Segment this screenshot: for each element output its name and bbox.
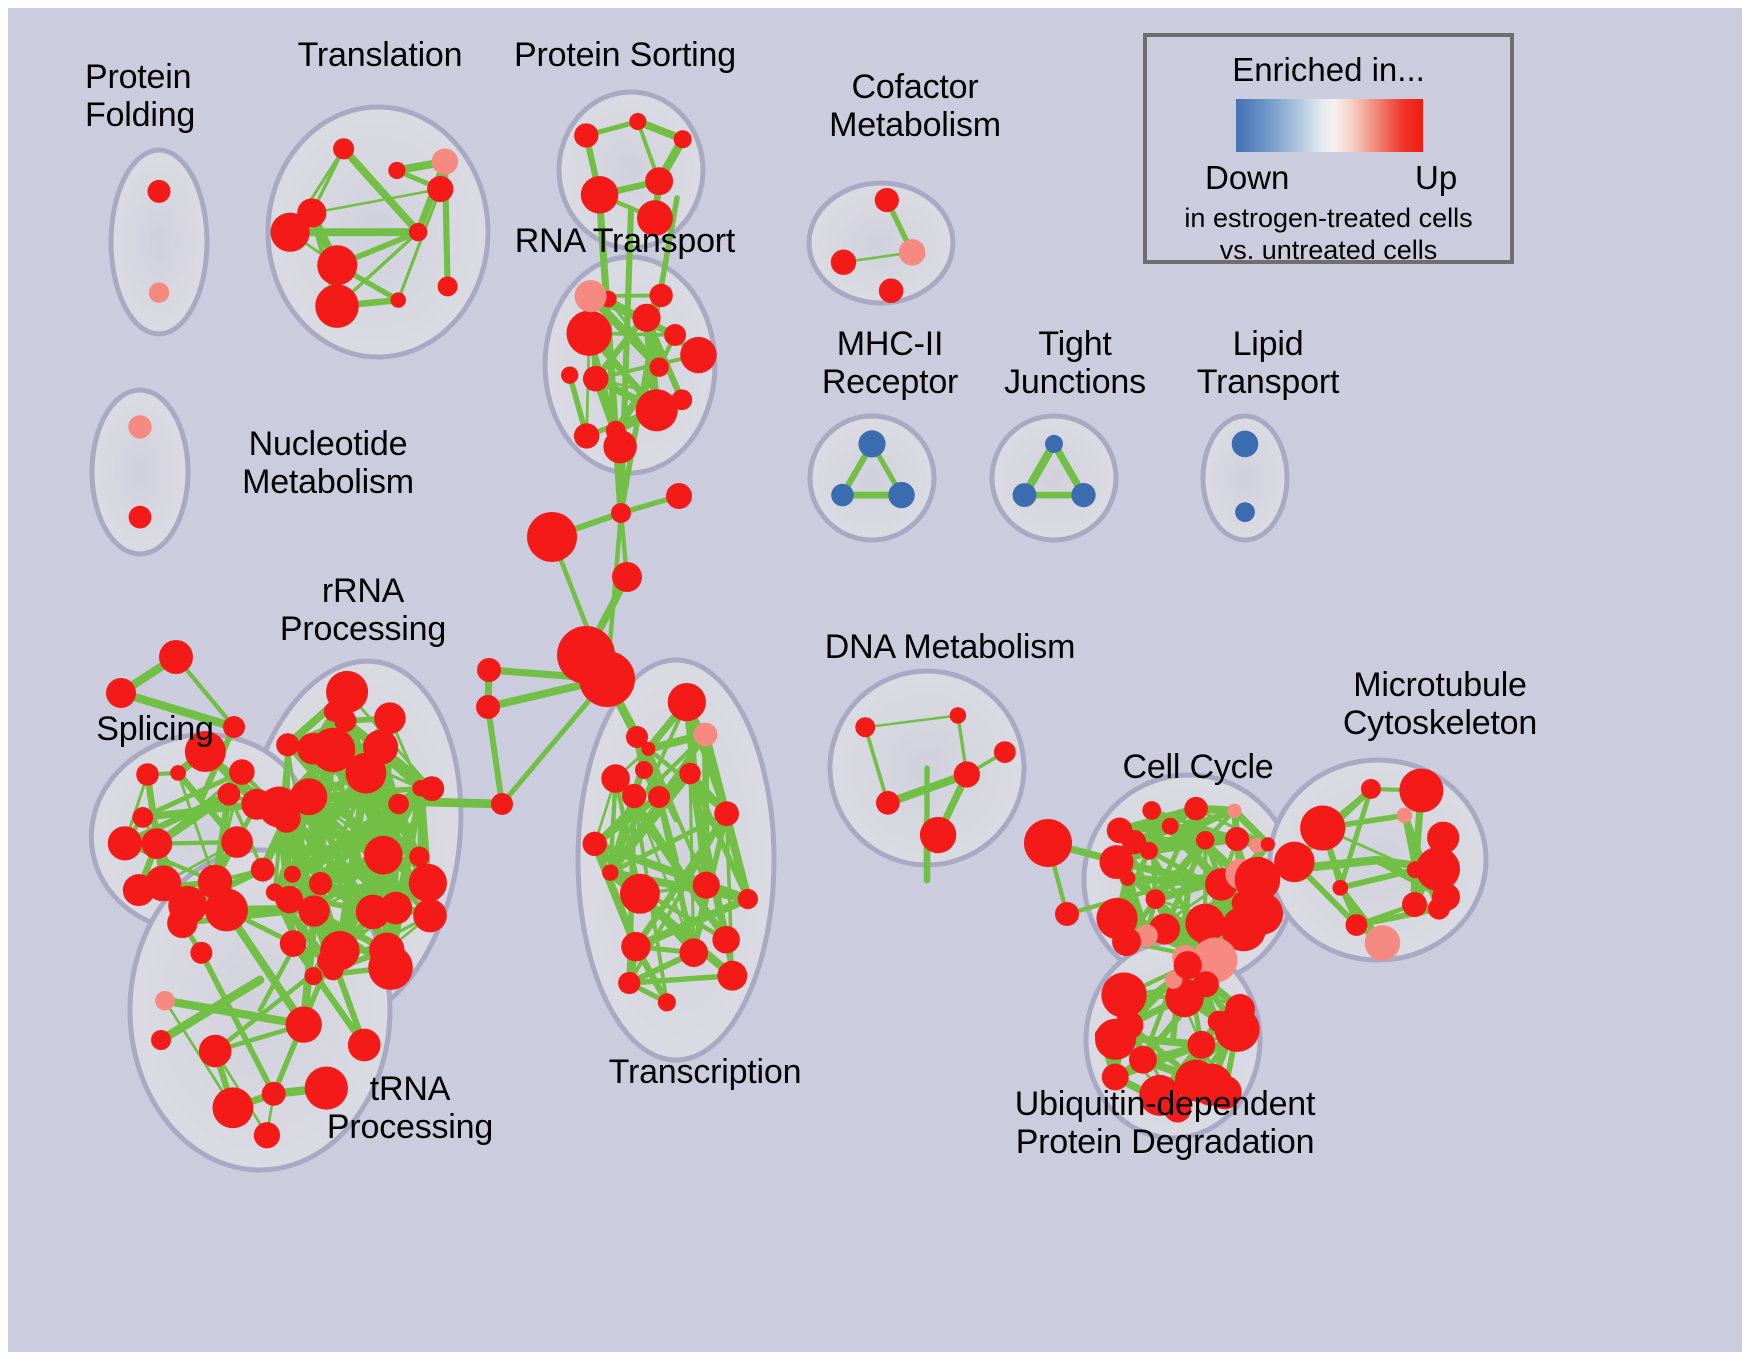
network-node xyxy=(272,804,301,833)
network-node xyxy=(368,945,413,990)
network-node xyxy=(1402,892,1427,917)
network-node xyxy=(304,967,322,985)
network-node xyxy=(317,245,357,285)
network-node xyxy=(1416,847,1460,891)
cluster-label-transcription: Transcription xyxy=(560,1053,850,1091)
network-node xyxy=(679,938,708,967)
network-node xyxy=(611,503,631,523)
network-node xyxy=(106,678,136,708)
cluster-label-cofactor-metabolism: Cofactor Metabolism xyxy=(770,68,1060,144)
network-node xyxy=(205,888,248,931)
cluster-ellipse xyxy=(92,390,188,554)
network-node xyxy=(159,640,193,674)
network-node xyxy=(994,741,1016,763)
network-node xyxy=(1146,889,1166,909)
network-node xyxy=(270,213,309,252)
legend-down-label: Down xyxy=(1205,159,1289,197)
network-node xyxy=(167,908,197,938)
cluster-label-trna-processing: tRNA Processing xyxy=(280,1070,540,1146)
cluster-label-microtubule-cytoskeleton: Microtubule Cytoskeleton xyxy=(1280,666,1600,742)
network-node xyxy=(680,337,716,373)
network-node xyxy=(413,899,447,933)
network-node xyxy=(108,826,142,860)
network-node xyxy=(241,789,272,820)
network-node xyxy=(1365,925,1400,960)
network-node xyxy=(1232,431,1259,458)
network-node xyxy=(1274,842,1314,882)
network-node xyxy=(561,366,578,383)
network-node xyxy=(1227,804,1241,818)
network-node xyxy=(136,763,159,786)
network-node xyxy=(254,1122,280,1148)
network-node xyxy=(1261,837,1275,851)
network-node xyxy=(141,828,172,859)
network-node xyxy=(626,726,648,748)
network-node xyxy=(602,864,619,881)
network-node xyxy=(899,239,926,266)
network-node xyxy=(635,761,653,779)
network-node xyxy=(1300,805,1345,850)
network-node xyxy=(888,482,914,508)
network-node xyxy=(364,836,403,875)
network-node xyxy=(714,801,739,826)
network-node xyxy=(1241,892,1283,934)
network-node xyxy=(229,759,255,785)
legend-caption: in estrogen-treated cellsvs. untreated c… xyxy=(1147,203,1510,267)
network-node xyxy=(649,284,672,307)
network-node xyxy=(583,366,609,392)
cluster-label-ubiquitin-degradation: Ubiquitin-dependent Protein Degradation xyxy=(955,1085,1375,1161)
network-node xyxy=(1013,483,1037,507)
legend-title: Enriched in... xyxy=(1147,51,1510,89)
network-node xyxy=(388,162,405,179)
network-node xyxy=(326,671,368,713)
network-node xyxy=(1235,502,1255,522)
figure-root: Protein FoldingTranslationProtein Sortin… xyxy=(0,0,1750,1360)
network-node xyxy=(276,733,299,756)
network-node xyxy=(581,176,619,214)
network-node xyxy=(712,926,740,954)
network-node xyxy=(409,864,447,902)
network-node xyxy=(309,872,332,895)
network-node xyxy=(491,793,513,815)
network-node xyxy=(348,1029,381,1062)
network-node xyxy=(266,883,284,901)
cluster-label-protein-sorting: Protein Sorting xyxy=(480,36,770,74)
network-node xyxy=(831,484,854,507)
network-node xyxy=(601,764,630,793)
network-node xyxy=(1174,951,1202,979)
network-node xyxy=(317,949,341,973)
network-node xyxy=(1225,994,1255,1024)
network-node xyxy=(151,1030,171,1050)
network-node xyxy=(1332,880,1348,896)
network-node xyxy=(1024,819,1072,867)
network-node xyxy=(409,223,427,241)
network-node xyxy=(1099,845,1133,879)
network-node xyxy=(123,874,155,906)
network-node xyxy=(190,942,212,964)
network-node xyxy=(286,1006,322,1042)
network-node xyxy=(679,763,701,785)
network-node xyxy=(374,702,406,734)
network-node xyxy=(388,794,409,815)
network-node xyxy=(1107,818,1133,844)
network-node xyxy=(875,188,899,212)
network-node xyxy=(1101,973,1146,1018)
network-node xyxy=(1399,768,1443,812)
network-node xyxy=(1225,827,1249,851)
network-node xyxy=(476,695,500,719)
network-node xyxy=(1432,883,1460,911)
network-node xyxy=(391,292,406,307)
network-node xyxy=(950,707,966,723)
network-node xyxy=(1187,1031,1215,1059)
network-node xyxy=(632,304,660,332)
network-node xyxy=(128,415,151,438)
network-node xyxy=(649,357,668,376)
network-node xyxy=(132,807,153,828)
network-node xyxy=(149,282,169,302)
network-node xyxy=(879,279,904,304)
network-node xyxy=(1361,779,1381,799)
network-node xyxy=(876,791,900,815)
network-node xyxy=(477,658,501,682)
edge xyxy=(351,800,502,804)
network-node xyxy=(831,250,856,275)
network-node xyxy=(648,786,670,808)
network-node xyxy=(363,730,398,765)
network-node xyxy=(645,167,673,195)
network-node xyxy=(636,389,678,431)
network-node xyxy=(199,1035,232,1068)
cluster-ellipse xyxy=(111,150,207,334)
network-node xyxy=(567,311,612,356)
network-node xyxy=(212,1087,253,1128)
network-node xyxy=(297,733,329,765)
legend-caption-line2: vs. untreated cells xyxy=(1220,235,1438,265)
cluster-label-splicing: Splicing xyxy=(50,710,260,748)
network-node xyxy=(251,858,275,882)
cluster-label-nucleotide-metabolism: Nucleotide Metabolism xyxy=(198,425,458,501)
network-node xyxy=(674,130,692,148)
network-node xyxy=(954,761,980,787)
cluster-label-rrna-processing: rRNA Processing xyxy=(238,572,488,648)
network-node xyxy=(221,826,253,858)
network-node xyxy=(574,423,599,448)
network-node xyxy=(629,113,646,130)
network-node xyxy=(583,832,607,856)
network-node xyxy=(1045,435,1063,453)
network-node xyxy=(380,892,413,925)
network-node xyxy=(419,776,444,801)
network-node xyxy=(693,872,720,899)
network-node xyxy=(315,284,358,327)
network-node xyxy=(1196,831,1215,850)
network-node xyxy=(618,972,640,994)
network-node xyxy=(694,723,718,747)
network-node xyxy=(280,930,307,957)
cluster-label-translation: Translation xyxy=(240,36,520,74)
network-node xyxy=(1055,902,1079,926)
network-node xyxy=(575,280,607,312)
network-node xyxy=(621,932,650,961)
network-node xyxy=(129,506,152,529)
network-node xyxy=(1397,808,1413,824)
network-node xyxy=(855,717,875,737)
cluster-label-lipid-transport: Lipid Transport xyxy=(1148,325,1388,401)
legend-caption-line1: in estrogen-treated cells xyxy=(1184,203,1472,233)
network-node xyxy=(218,783,241,806)
network-node xyxy=(409,847,429,867)
network-node xyxy=(666,483,692,509)
network-node xyxy=(658,993,676,1011)
network-node xyxy=(1142,801,1161,820)
network-node xyxy=(620,874,660,914)
network-node xyxy=(1095,1028,1109,1042)
network-node xyxy=(664,324,686,346)
network-node xyxy=(717,961,747,991)
network-node xyxy=(920,817,956,853)
network-node xyxy=(148,180,171,203)
cluster-label-rna-transport: RNA Transport xyxy=(480,222,770,260)
color-gradient-bar xyxy=(1236,99,1423,152)
network-node xyxy=(1162,818,1179,835)
network-node xyxy=(1071,483,1095,507)
network-node xyxy=(284,866,301,883)
legend-up-label: Up xyxy=(1415,159,1457,197)
network-node xyxy=(427,176,453,202)
network-node xyxy=(1112,927,1141,956)
cluster-label-cell-cycle: Cell Cycle xyxy=(1068,748,1328,786)
network-node xyxy=(1129,1046,1157,1074)
network-node xyxy=(603,430,636,463)
network-node xyxy=(574,123,598,147)
legend-box: Enriched in... Down Up in estrogen-treat… xyxy=(1143,33,1514,264)
network-node xyxy=(858,430,885,457)
network-node xyxy=(671,389,692,410)
network-node xyxy=(170,765,186,781)
network-node xyxy=(668,683,706,721)
network-node xyxy=(527,512,577,562)
network-node xyxy=(333,138,354,159)
network-node xyxy=(1346,914,1368,936)
network-node xyxy=(579,651,635,707)
network-node xyxy=(1184,797,1208,821)
cluster-label-dna-metabolism: DNA Metabolism xyxy=(790,628,1110,666)
network-node xyxy=(432,148,458,174)
network-node xyxy=(612,562,642,592)
network-node xyxy=(738,889,758,909)
network-node xyxy=(155,991,175,1011)
network-node xyxy=(438,276,458,296)
network-node xyxy=(307,901,323,917)
cluster-ellipse xyxy=(992,416,1116,540)
